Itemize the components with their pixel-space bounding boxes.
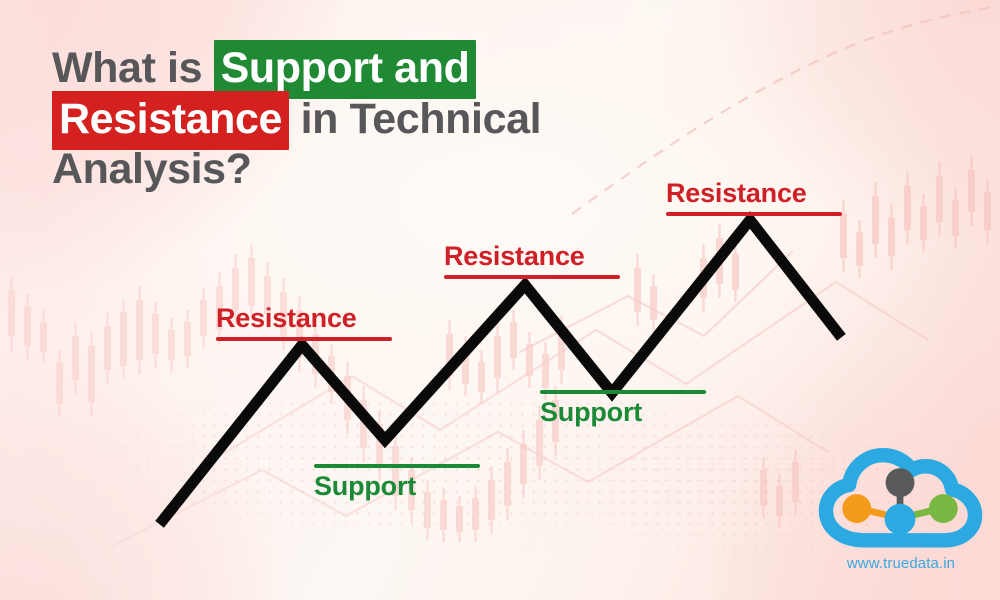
node-center-blue (885, 504, 916, 535)
cloud-network-icon (812, 448, 990, 548)
annotation-resistance-3: Resistance (666, 178, 842, 216)
annotation-resistance-1: Resistance (216, 303, 392, 341)
annotation-support-1: Support (314, 464, 480, 502)
annotation-resistance-2: Resistance (444, 241, 620, 279)
logo-website-url[interactable]: www.truedata.in (812, 555, 990, 572)
annotation-resistance-2-text: Resistance (444, 241, 620, 272)
annotation-resistance-3-text: Resistance (666, 178, 842, 209)
truedata-logo[interactable]: www.truedata.in (812, 448, 990, 572)
annotation-resistance-1-level-line (216, 337, 392, 341)
annotation-support-2-text: Support (540, 397, 706, 428)
annotation-resistance-1-text: Resistance (216, 303, 392, 334)
node-left-orange (842, 494, 871, 523)
annotation-resistance-3-level-line (666, 212, 842, 216)
annotation-support-2: Support (540, 390, 706, 428)
node-top-gray (886, 468, 915, 497)
annotation-resistance-2-level-line (444, 275, 620, 279)
annotation-support-1-level-line (314, 464, 480, 468)
poster-canvas: What is Support and Resistance in Techni… (0, 0, 1000, 600)
node-right-green (929, 494, 958, 523)
annotation-support-2-level-line (540, 390, 706, 394)
annotation-support-1-text: Support (314, 471, 480, 502)
